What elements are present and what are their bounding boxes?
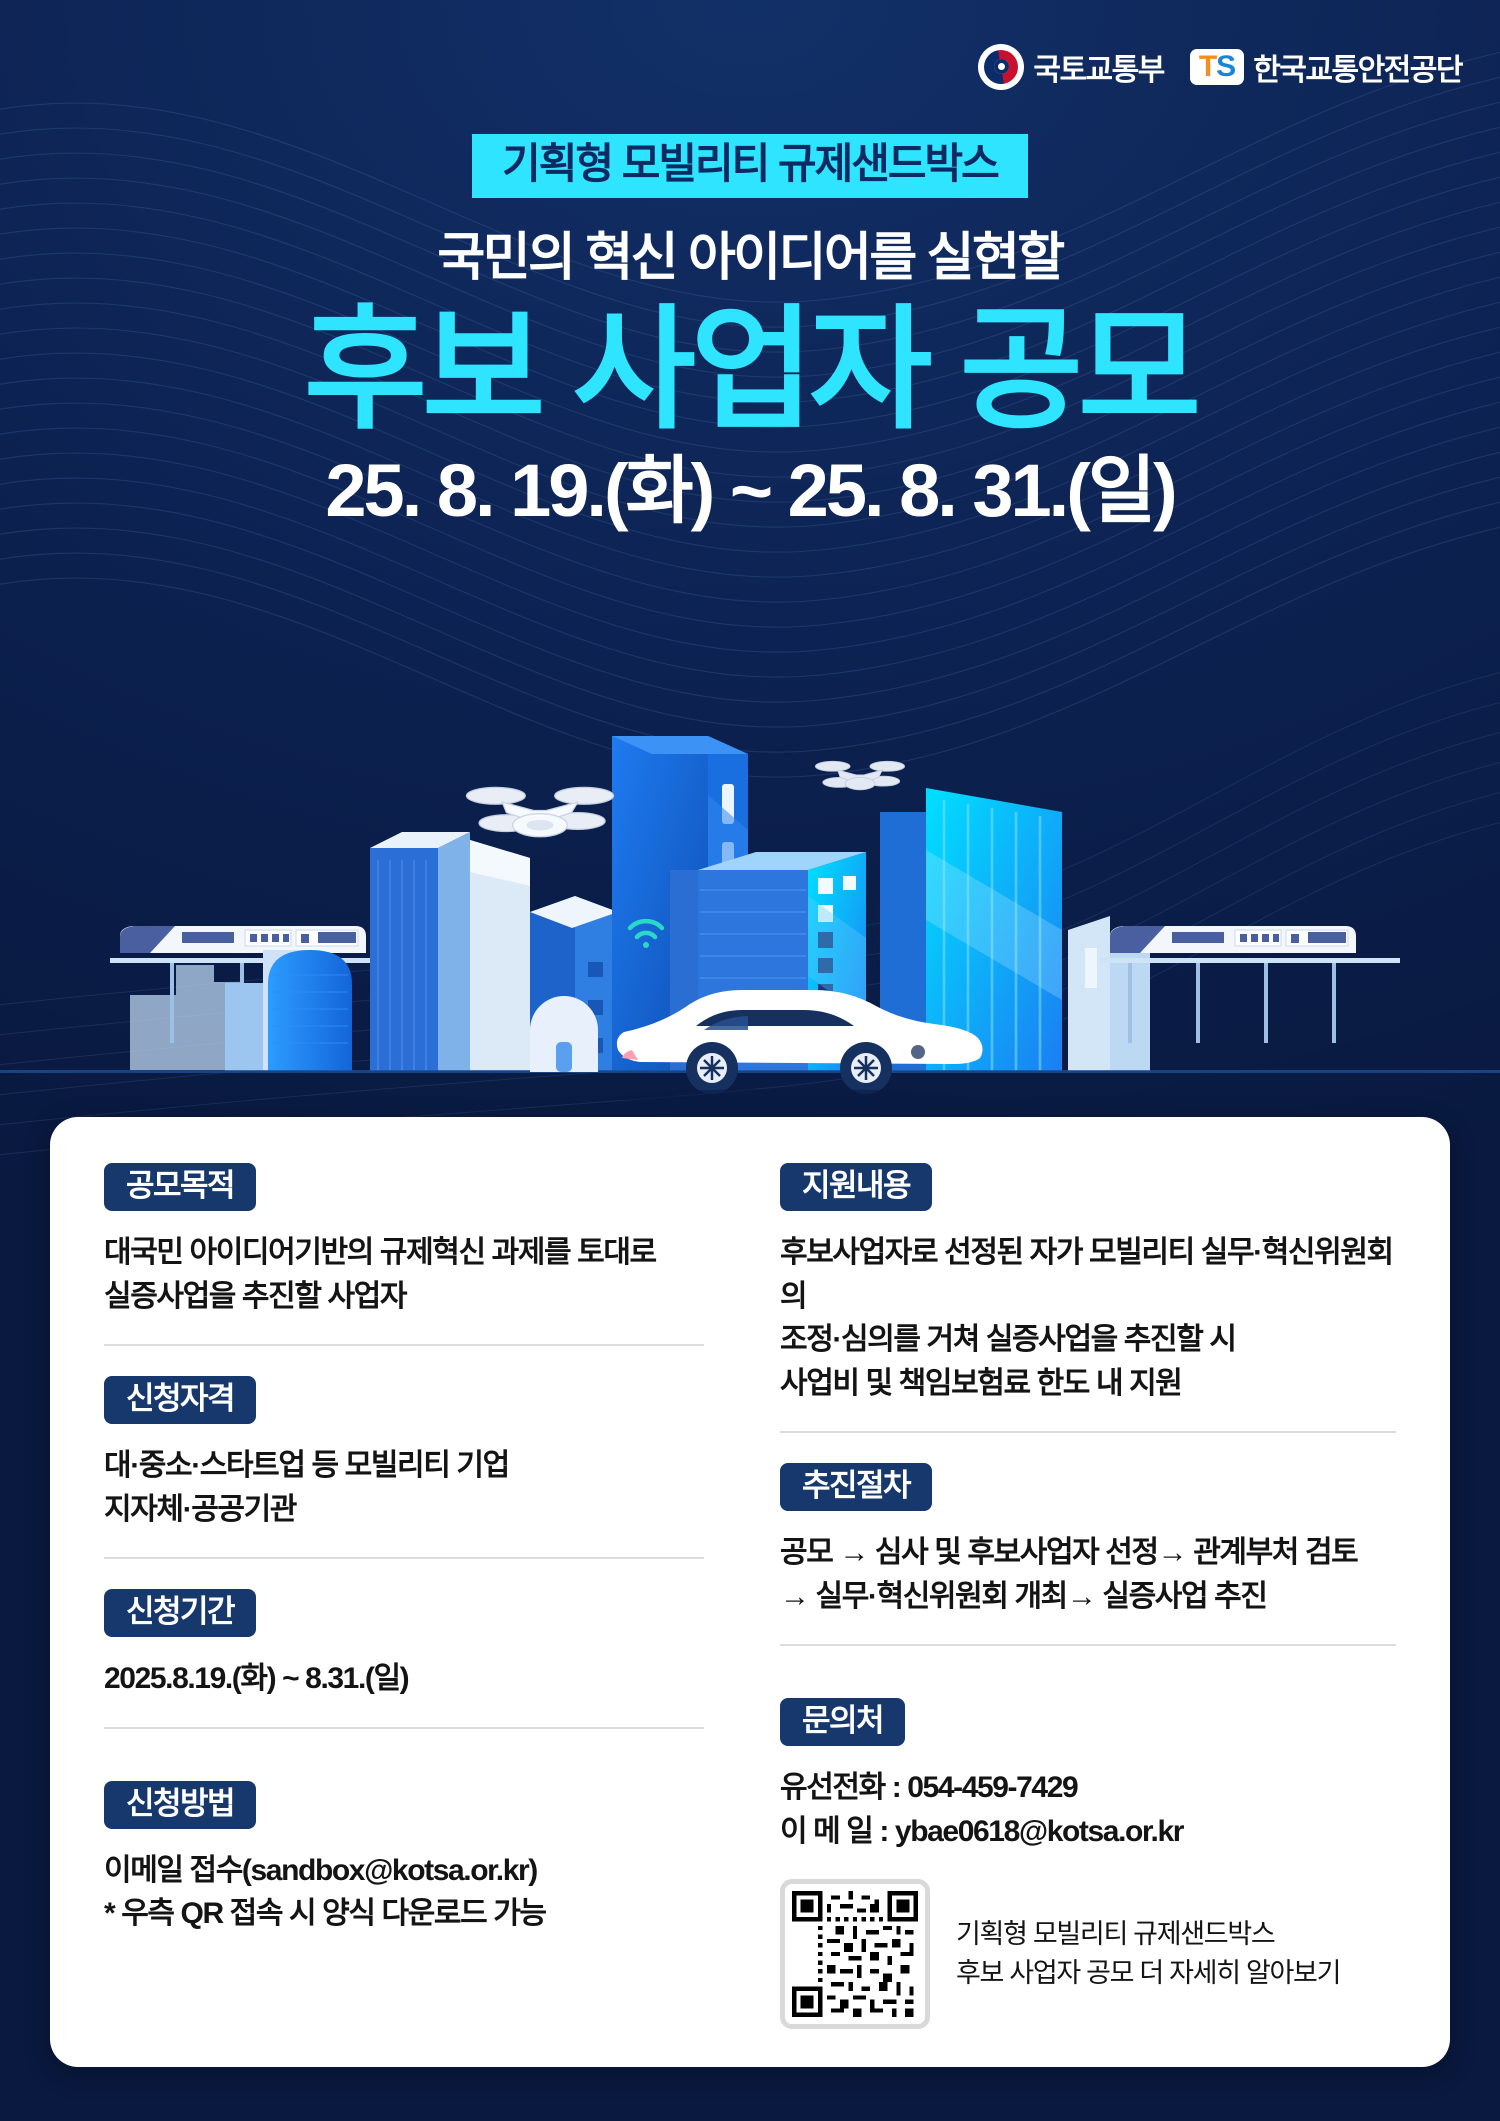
info-card: 공모목적 대국민 아이디어기반의 규제혁신 과제를 토대로 실증사업을 추진할 … [50, 1117, 1450, 2067]
section-method-line2: * 우측 QR 접속 시 양식 다운로드 가능 [104, 1892, 704, 1936]
section-support-body: 후보사업자로 선정된 자가 모빌리티 실무·혁신위원회의 조정·심의를 거쳐 실… [780, 1231, 1396, 1405]
page-title: 후보 사업자 공모 [0, 301, 1500, 442]
divider [104, 1727, 704, 1729]
qr-code-icon[interactable] [780, 1879, 930, 2029]
section-eligibility-line2: 지자체·공공기관 [104, 1488, 704, 1532]
section-procedure-label: 추진절차 [780, 1463, 932, 1511]
ground-line [0, 1070, 1500, 1073]
section-period-line1: 2025.8.19.(화) ~ 8.31.(일) [104, 1657, 704, 1701]
hero-date-range: 25. 8. 19.(화) ~ 25. 8. 31.(일) [0, 450, 1500, 531]
section-procedure-body: 공모 → 심사 및 후보사업자 선정→ 관계부처 검토 → 실무·혁신위원회 개… [780, 1531, 1396, 1618]
contact-email: 이 메 일 : ybae0618@kotsa.or.kr [780, 1810, 1396, 1854]
qr-caption: 기획형 모빌리티 규제샌드박스 후보 사업자 공모 더 자세히 알아보기 [956, 1915, 1340, 1993]
section-method-body: 이메일 접수(sandbox@kotsa.or.kr) * 우측 QR 접속 시… [104, 1849, 704, 1936]
section-contact: 문의처 유선전화 : 054-459-7429 이 메 일 : ybae0618… [780, 1698, 1396, 2029]
smart-city-illustration [0, 700, 1500, 1100]
section-eligibility-body: 대·중소·스타트업 등 모빌리티 기업 지자체·공공기관 [104, 1444, 704, 1531]
info-column-right: 지원내용 후보사업자로 선정된 자가 모빌리티 실무·혁신위원회의 조정·심의를… [750, 1163, 1396, 2031]
qr-caption-line1: 기획형 모빌리티 규제샌드박스 [956, 1915, 1340, 1954]
train-right [1110, 926, 1356, 953]
train-left [120, 926, 366, 953]
section-method-label: 신청방법 [104, 1781, 256, 1829]
hero-subtitle: 국민의 혁신 아이디어를 실현할 [0, 230, 1500, 287]
section-eligibility: 신청자격 대·중소·스타트업 등 모빌리티 기업 지자체·공공기관 [104, 1376, 704, 1531]
drone-icon [467, 787, 614, 841]
section-support-label: 지원내용 [780, 1163, 932, 1211]
spacer [780, 1676, 1396, 1698]
section-period: 신청기간 2025.8.19.(화) ~ 8.31.(일) [104, 1589, 704, 1701]
section-procedure-line1: 공모 → 심사 및 후보사업자 선정→ 관계부처 검토 [780, 1531, 1396, 1575]
divider [104, 1344, 704, 1346]
section-contact-body: 유선전화 : 054-459-7429 이 메 일 : ybae0618@kot… [780, 1766, 1396, 1853]
section-procedure-line2: → 실무·혁신위원회 개최→ 실증사업 추진 [780, 1575, 1396, 1619]
section-period-body: 2025.8.19.(화) ~ 8.31.(일) [104, 1657, 704, 1701]
info-column-left: 공모목적 대국민 아이디어기반의 규제혁신 과제를 토대로 실증사업을 추진할 … [104, 1163, 750, 2031]
section-contact-label: 문의처 [780, 1698, 905, 1746]
section-purpose: 공모목적 대국민 아이디어기반의 규제혁신 과제를 토대로 실증사업을 추진할 … [104, 1163, 704, 1318]
spacer [104, 1759, 704, 1781]
section-support-line1: 후보사업자로 선정된 자가 모빌리티 실무·혁신위원회의 [780, 1231, 1396, 1318]
section-purpose-body: 대국민 아이디어기반의 규제혁신 과제를 토대로 실증사업을 추진할 사업자 [104, 1231, 704, 1318]
divider [780, 1431, 1396, 1433]
qr-row: 기획형 모빌리티 규제샌드박스 후보 사업자 공모 더 자세히 알아보기 [780, 1879, 1396, 2029]
section-support: 지원내용 후보사업자로 선정된 자가 모빌리티 실무·혁신위원회의 조정·심의를… [780, 1163, 1396, 1405]
section-method-line1: 이메일 접수(sandbox@kotsa.or.kr) [104, 1849, 704, 1893]
section-method: 신청방법 이메일 접수(sandbox@kotsa.or.kr) * 우측 QR… [104, 1781, 704, 1936]
section-purpose-line2: 실증사업을 추진할 사업자 [104, 1275, 704, 1319]
qr-caption-line2: 후보 사업자 공모 더 자세히 알아보기 [956, 1954, 1340, 1993]
section-purpose-label: 공모목적 [104, 1163, 256, 1211]
street-arch [530, 996, 598, 1072]
section-purpose-line1: 대국민 아이디어기반의 규제혁신 과제를 토대로 [104, 1231, 704, 1275]
program-badge: 기획형 모빌리티 규제샌드박스 [472, 134, 1028, 198]
drone-icon [815, 761, 904, 790]
section-support-line2: 조정·심의를 거쳐 실증사업을 추진할 시 [780, 1318, 1396, 1362]
hero-section: 기획형 모빌리티 규제샌드박스 국민의 혁신 아이디어를 실현할 후보 사업자 … [0, 0, 1500, 531]
section-eligibility-label: 신청자격 [104, 1376, 256, 1424]
section-period-label: 신청기간 [104, 1589, 256, 1637]
section-procedure: 추진절차 공모 → 심사 및 후보사업자 선정→ 관계부처 검토 → 실무·혁신… [780, 1463, 1396, 1618]
divider [104, 1557, 704, 1559]
divider [780, 1644, 1396, 1646]
section-eligibility-line1: 대·중소·스타트업 등 모빌리티 기업 [104, 1444, 704, 1488]
section-support-line3: 사업비 및 책임보험료 한도 내 지원 [780, 1362, 1396, 1406]
contact-phone: 유선전화 : 054-459-7429 [780, 1766, 1396, 1810]
